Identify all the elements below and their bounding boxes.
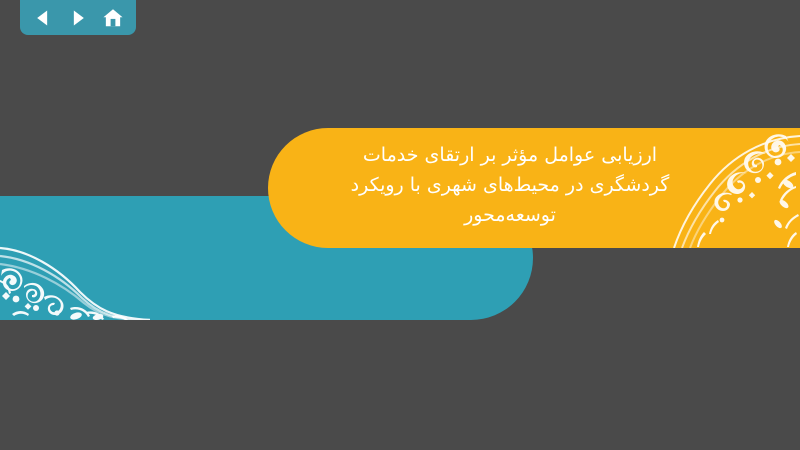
forward-button[interactable] [65, 5, 91, 31]
right-triangle-icon [68, 8, 88, 28]
back-button[interactable] [30, 5, 56, 31]
home-button[interactable] [100, 5, 126, 31]
slide-title: ارزیابی عوامل مؤثر بر ارتقای خدمات گردشگ… [300, 140, 720, 230]
title-line-2: گردشگری در محیط‌های شهری با رویکرد [300, 170, 720, 200]
left-triangle-icon [33, 8, 53, 28]
home-icon [102, 7, 124, 29]
arabesque-ornament-icon [0, 196, 150, 320]
slide-navigation-bar [20, 0, 136, 35]
title-line-3: توسعه‌محور [300, 200, 720, 230]
title-line-1: ارزیابی عوامل مؤثر بر ارتقای خدمات [300, 140, 720, 170]
presentation-slide: ارزیابی عوامل مؤثر بر ارتقای خدمات گردشگ… [0, 0, 800, 450]
